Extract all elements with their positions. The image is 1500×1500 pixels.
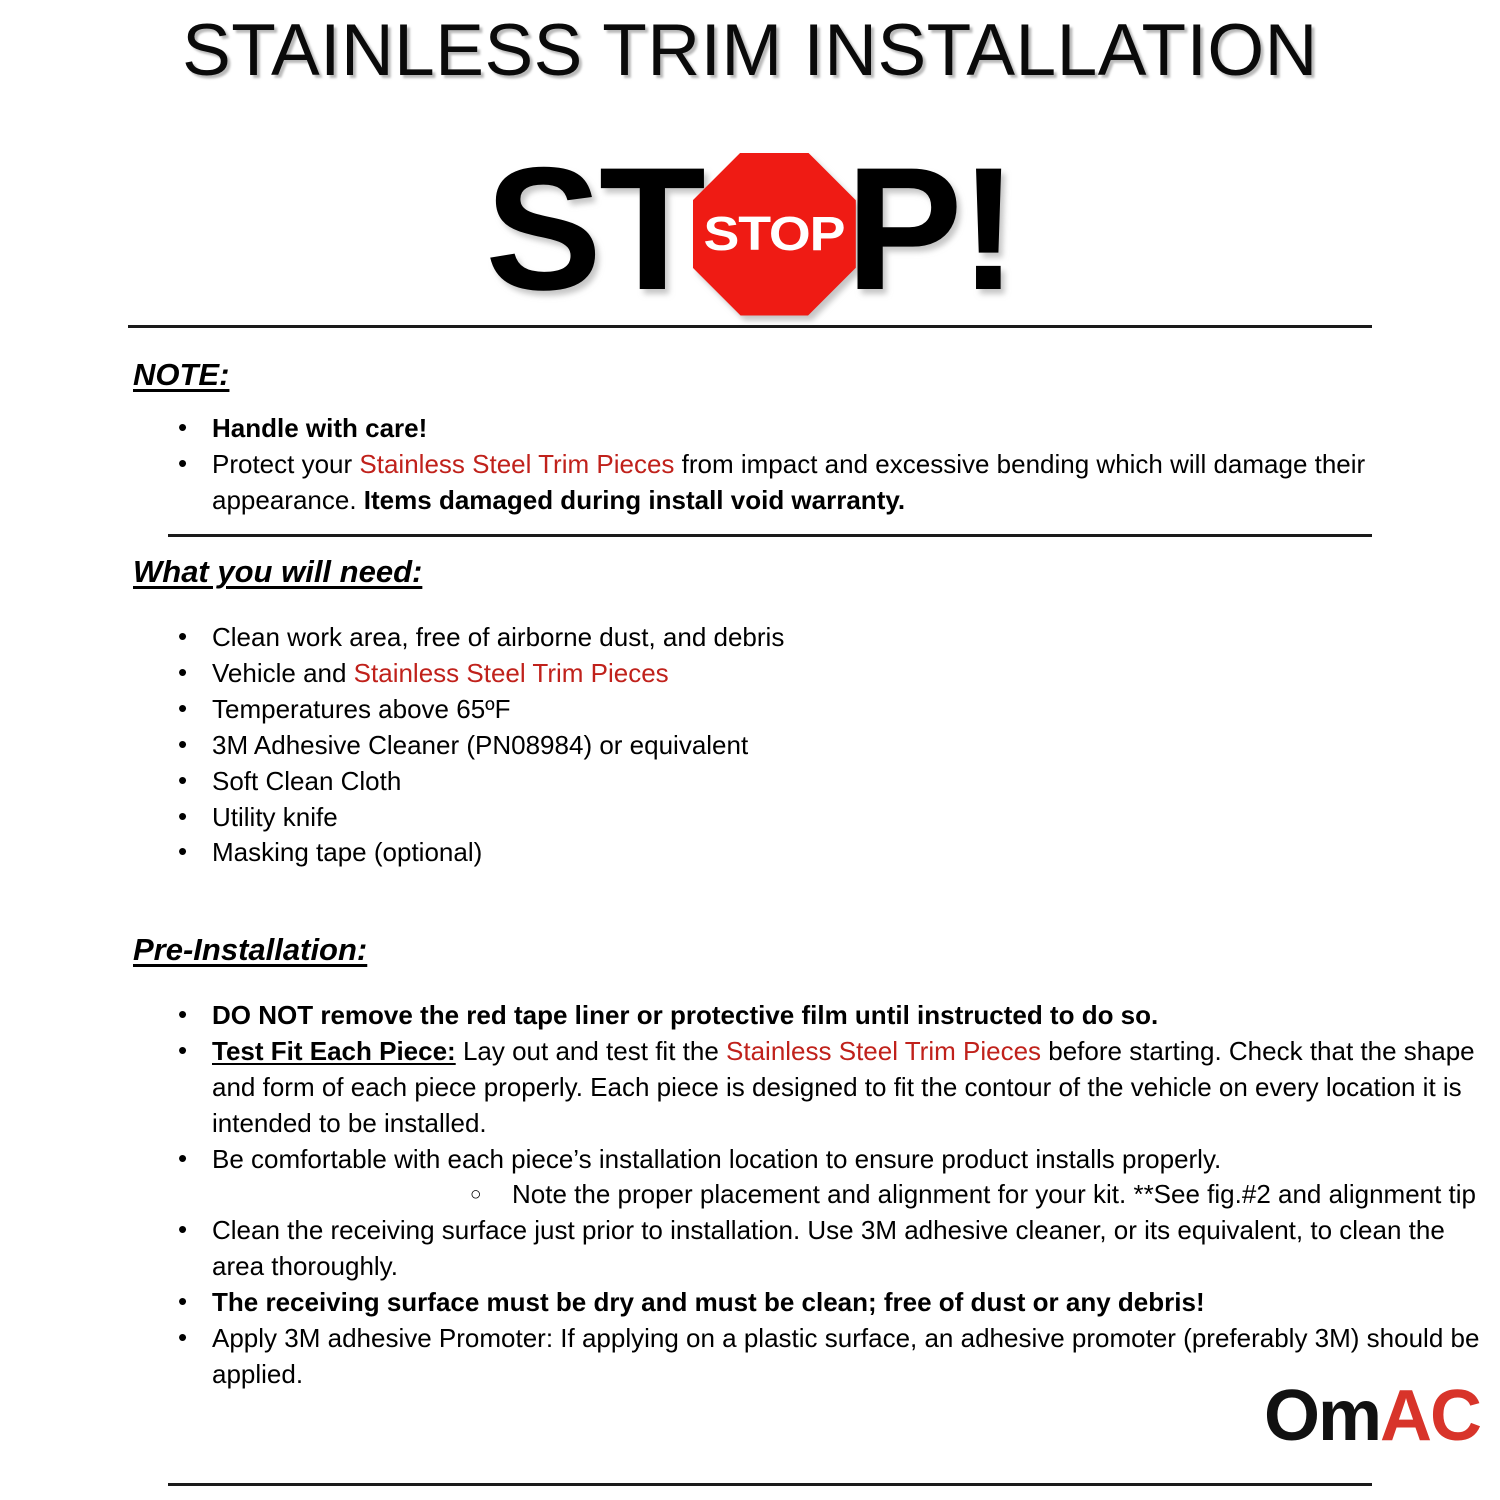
- note-list: Handle with care! Protect your Stainless…: [0, 411, 1500, 519]
- pre-item-0-text: DO NOT remove the red tape liner or prot…: [212, 1000, 1158, 1030]
- heading-what-you-need: What you will need:: [0, 553, 1500, 592]
- list-item: Temperatures above 65ºF: [0, 692, 1500, 728]
- list-item: Test Fit Each Piece: Lay out and test fi…: [0, 1034, 1500, 1142]
- what-you-need-list: Clean work area, free of airborne dust, …: [0, 620, 1500, 871]
- list-item: Vehicle and Stainless Steel Trim Pieces: [0, 656, 1500, 692]
- stop-logo-right-text: P!: [846, 147, 1015, 313]
- pre-item-2-sub-0-text: Note the proper placement and alignment …: [512, 1179, 1476, 1209]
- list-item: Be comfortable with each piece’s install…: [0, 1142, 1500, 1214]
- note-item-0-text: Handle with care!: [212, 413, 427, 443]
- stop-sign-label: STOP: [704, 211, 845, 259]
- heading-note: NOTE:: [0, 356, 1500, 395]
- list-item: Clean the receiving surface just prior t…: [0, 1213, 1500, 1285]
- pre-item-1-text-a: Lay out and test fit the: [456, 1036, 726, 1066]
- list-item: Soft Clean Cloth: [0, 764, 1500, 800]
- pre-installation-sublist: Note the proper placement and alignment …: [212, 1177, 1500, 1213]
- list-item: Protect your Stainless Steel Trim Pieces…: [0, 447, 1500, 519]
- list-item: Handle with care!: [0, 411, 1500, 447]
- stop-sign-octagon-icon: STOP: [693, 153, 856, 316]
- omac-logo: OmAC: [1264, 1380, 1480, 1452]
- list-item: Note the proper placement and alignment …: [212, 1177, 1500, 1213]
- pre-installation-list: DO NOT remove the red tape liner or prot…: [0, 998, 1500, 1393]
- need-item-4-text: Soft Clean Cloth: [212, 766, 401, 796]
- note-item-1-text-bold: Items damaged during install void warran…: [364, 485, 905, 515]
- note-item-1-text-highlight: Stainless Steel Trim Pieces: [359, 449, 674, 479]
- page-title: STAINLESS TRIM INSTALLATION: [0, 0, 1500, 87]
- stop-logo: ST STOP P!: [485, 147, 1015, 313]
- pre-item-4-text: The receiving surface must be dry and mu…: [212, 1287, 1205, 1317]
- stop-logo-left-text: ST: [485, 147, 703, 313]
- stop-logo-container: ST STOP P!: [0, 135, 1500, 325]
- need-item-5-text: Utility knife: [212, 802, 338, 832]
- need-item-1-text-a: Vehicle and: [212, 658, 354, 688]
- need-item-1-text-highlight: Stainless Steel Trim Pieces: [354, 658, 669, 688]
- pre-item-2-text: Be comfortable with each piece’s install…: [212, 1144, 1221, 1174]
- omac-logo-red-text: AC: [1380, 1376, 1480, 1456]
- document-body: NOTE: Handle with care! Protect your Sta…: [0, 328, 1500, 1393]
- need-item-2-text: Temperatures above 65ºF: [212, 694, 511, 724]
- pre-item-1-text-highlight: Stainless Steel Trim Pieces: [726, 1036, 1041, 1066]
- list-item: 3M Adhesive Cleaner (PN08984) or equival…: [0, 728, 1500, 764]
- list-item: DO NOT remove the red tape liner or prot…: [0, 998, 1500, 1034]
- omac-logo-black-text: Om: [1264, 1376, 1380, 1456]
- pre-item-1-label: Test Fit Each Piece:: [212, 1036, 456, 1066]
- list-item: The receiving surface must be dry and mu…: [0, 1285, 1500, 1321]
- list-item: Utility knife: [0, 800, 1500, 836]
- need-item-0-text: Clean work area, free of airborne dust, …: [212, 622, 784, 652]
- divider-bottom: [168, 1483, 1372, 1486]
- need-item-3-text: 3M Adhesive Cleaner (PN08984) or equival…: [212, 730, 748, 760]
- need-item-6-text: Masking tape (optional): [212, 837, 482, 867]
- list-item: Masking tape (optional): [0, 835, 1500, 871]
- pre-item-3-text: Clean the receiving surface just prior t…: [212, 1215, 1445, 1281]
- list-item: Clean work area, free of airborne dust, …: [0, 620, 1500, 656]
- note-item-1-text-a: Protect your: [212, 449, 359, 479]
- heading-pre-installation: Pre-Installation:: [0, 931, 1500, 970]
